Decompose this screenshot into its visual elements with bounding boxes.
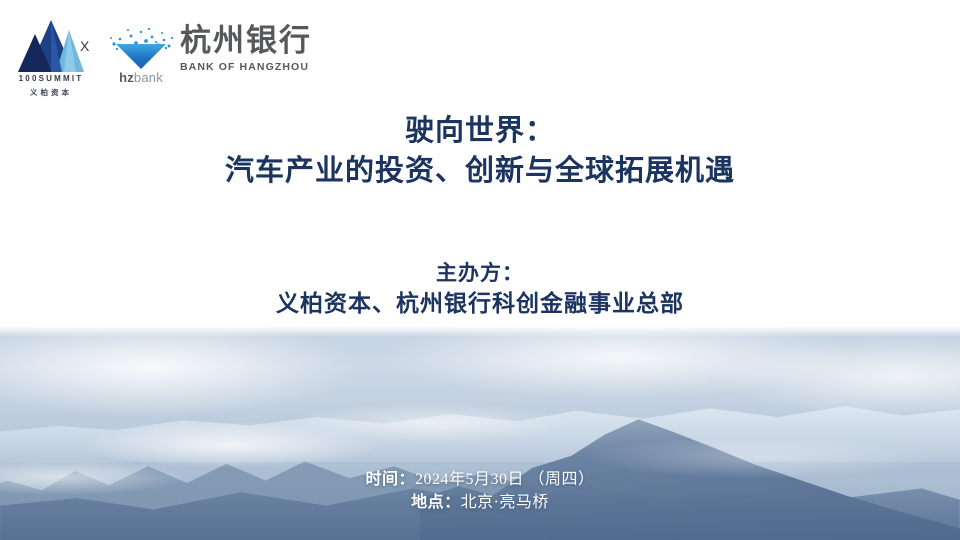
hz-word-hz: hz [119, 70, 134, 85]
place-label: 地点： [411, 494, 461, 511]
summit-chinese-name: 义柏资本 [8, 88, 94, 97]
host-names: 义柏资本、杭州银行科创金融事业总部 [0, 288, 960, 320]
host-section: 主办方： 义柏资本、杭州银行科创金融事业总部 [0, 258, 960, 320]
poster-title: 驶向世界： 汽车产业的投资、创新与全球拓展机遇 [0, 112, 960, 192]
time-value: 2024年5月30日 （周四） [415, 471, 595, 488]
summit-wordmark: 100SUMMIT [8, 74, 94, 84]
logo-hzbank: hzbank [104, 20, 178, 88]
hzbank-wordmark: hzbank [104, 70, 178, 85]
event-details: 时间：2024年5月30日 （周四） 地点：北京·亮马桥 [0, 468, 960, 514]
hzbank-english-name: BANK OF HANGZHOU [180, 60, 316, 74]
logo-separator-x: X [80, 38, 89, 54]
place-value: 北京·亮马桥 [461, 494, 549, 511]
hzbank-name-block: 杭州银行 BANK OF HANGZHOU [180, 22, 316, 84]
mountain-peaks-icon [18, 18, 84, 72]
title-line-1: 驶向世界： [0, 112, 960, 150]
event-time-line: 时间：2024年5月30日 （周四） [0, 468, 960, 491]
time-label: 时间： [365, 471, 415, 488]
event-poster: 100SUMMIT 义柏资本 X [0, 0, 960, 540]
event-place-line: 地点：北京·亮马桥 [0, 491, 960, 514]
photo-top-fade [0, 327, 960, 337]
logo-100summit: 100SUMMIT 义柏资本 [8, 18, 94, 98]
hz-word-bank: bank [134, 70, 163, 85]
logo-bar: 100SUMMIT 义柏资本 X [0, 0, 960, 108]
hzbank-chinese-name: 杭州银行 [180, 22, 316, 60]
title-line-2: 汽车产业的投资、创新与全球拓展机遇 [0, 150, 960, 192]
hz-diamond-shape [116, 44, 166, 69]
host-label: 主办方： [0, 258, 960, 288]
